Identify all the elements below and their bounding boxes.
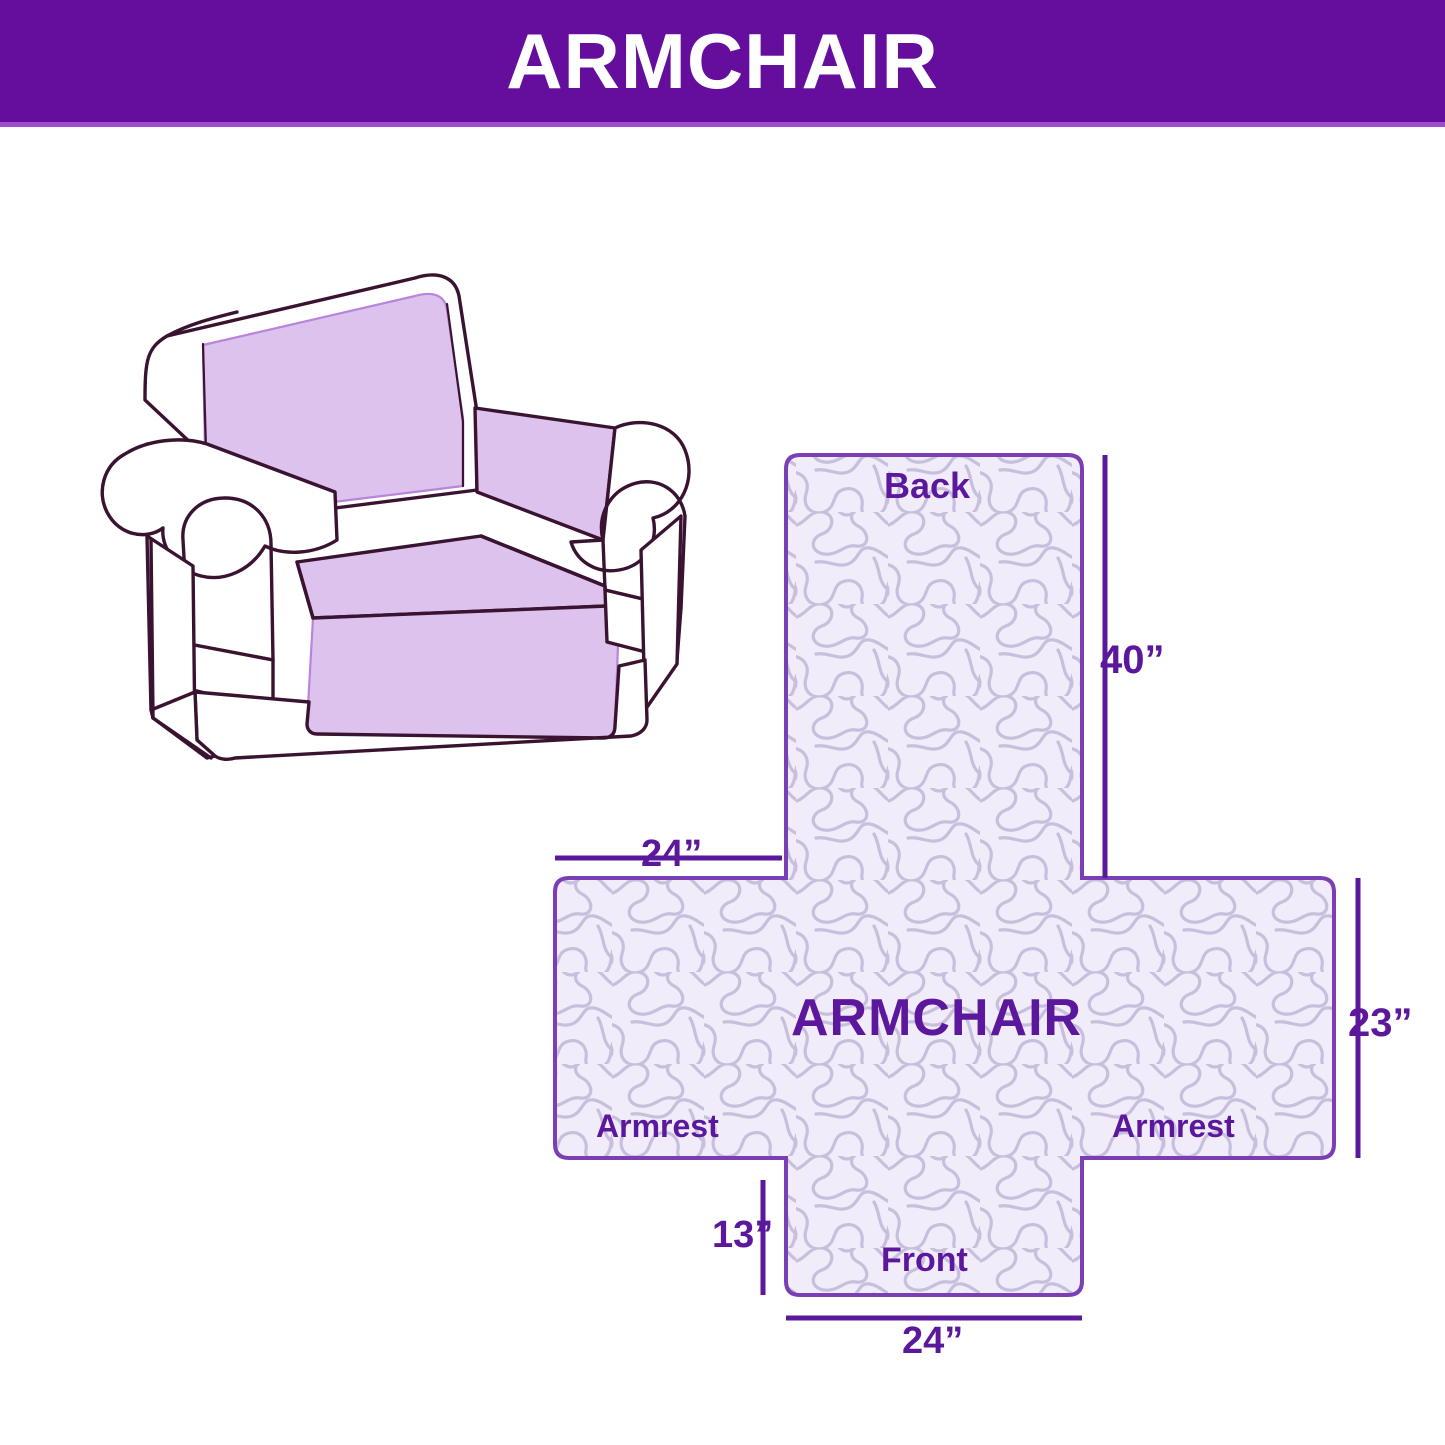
panel-label-armrest-right: Armrest — [1112, 1110, 1235, 1142]
panel-label-armrest-left: Armrest — [596, 1110, 719, 1142]
dimension-label-front-height: 13” — [712, 1216, 773, 1254]
dimension-label-arm-height: 23” — [1348, 1003, 1413, 1043]
dimension-label-back-height: 40” — [1100, 640, 1165, 680]
page-title: ARMCHAIR — [506, 22, 939, 100]
dimension-label-front-width: 24” — [902, 1322, 963, 1360]
cross-panel-shape — [520, 420, 1445, 1410]
slipcover-cross-diagram — [520, 420, 1445, 1410]
panel-label-back: Back — [884, 468, 970, 504]
header-banner: ARMCHAIR — [0, 0, 1445, 122]
panel-label-front: Front — [881, 1243, 968, 1277]
panel-label-center-armchair: ARMCHAIR — [791, 992, 1082, 1044]
header-underline-divider — [0, 122, 1445, 127]
dimension-label-arm-width: 24” — [641, 835, 702, 873]
